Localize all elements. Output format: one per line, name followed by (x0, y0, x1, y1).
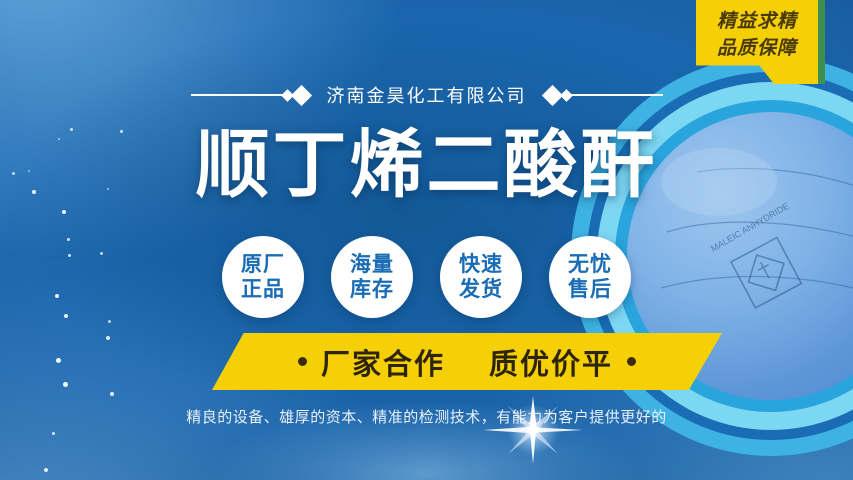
corner-tag-line2: 品质保障 (696, 35, 818, 62)
slogan-right: 质优价平 (489, 341, 613, 383)
promo-banner: MALEIC ANHYDRIDE 精益求精 品质保障 济南金昊化工有限公司 顺丁… (0, 0, 853, 480)
feature-badge-line1: 快速 (459, 252, 503, 277)
feature-badge: 原厂 正品 (222, 236, 304, 318)
feature-badge-line1: 原厂 (241, 252, 285, 277)
feature-badge-list: 原厂 正品 海量 库存 快速 发货 无忧 售后 (0, 236, 853, 318)
slogan-band-text: 厂家合作 质优价平 (212, 333, 722, 390)
slogan-left: 厂家合作 (321, 341, 445, 383)
corner-tag-line1: 精益求精 (696, 8, 818, 35)
feature-badge-line2: 正品 (241, 277, 285, 302)
decorative-dot (44, 468, 48, 472)
diamond-group-left (283, 88, 309, 103)
feature-badge: 快速 发货 (440, 236, 522, 318)
company-name: 济南金昊化工有限公司 (309, 82, 545, 108)
tagline: 精良的设备、雄厚的资本、精准的检测技术，有能力为客户提供更好的 (0, 406, 853, 427)
decorative-dot (62, 210, 66, 214)
bullet-dot-icon (298, 357, 307, 366)
decorative-dot (110, 392, 114, 396)
product-title: 顺丁烯二酸酐 (0, 128, 853, 202)
corner-tag-text: 精益求精 品质保障 (696, 8, 818, 62)
decorative-dot (52, 432, 55, 435)
decorative-dot (106, 336, 110, 340)
company-name-row: 济南金昊化工有限公司 (0, 82, 853, 108)
feature-badge-line1: 无忧 (568, 252, 612, 277)
divider-line-left (191, 94, 283, 96)
feature-badge-line2: 售后 (568, 277, 612, 302)
decorative-dot (63, 382, 68, 387)
decorative-dot (108, 320, 111, 323)
feature-badge: 海量 库存 (331, 236, 413, 318)
feature-badge-line1: 海量 (350, 252, 394, 277)
diamond-group-right (545, 88, 571, 103)
decorative-dot (56, 358, 61, 363)
diamond-small-icon (560, 89, 573, 102)
feature-badge-line2: 发货 (459, 277, 503, 302)
divider-line-right (571, 94, 663, 96)
feature-badge-line2: 库存 (350, 277, 394, 302)
feature-badge: 无忧 售后 (549, 236, 631, 318)
bullet-dot-icon (627, 357, 636, 366)
